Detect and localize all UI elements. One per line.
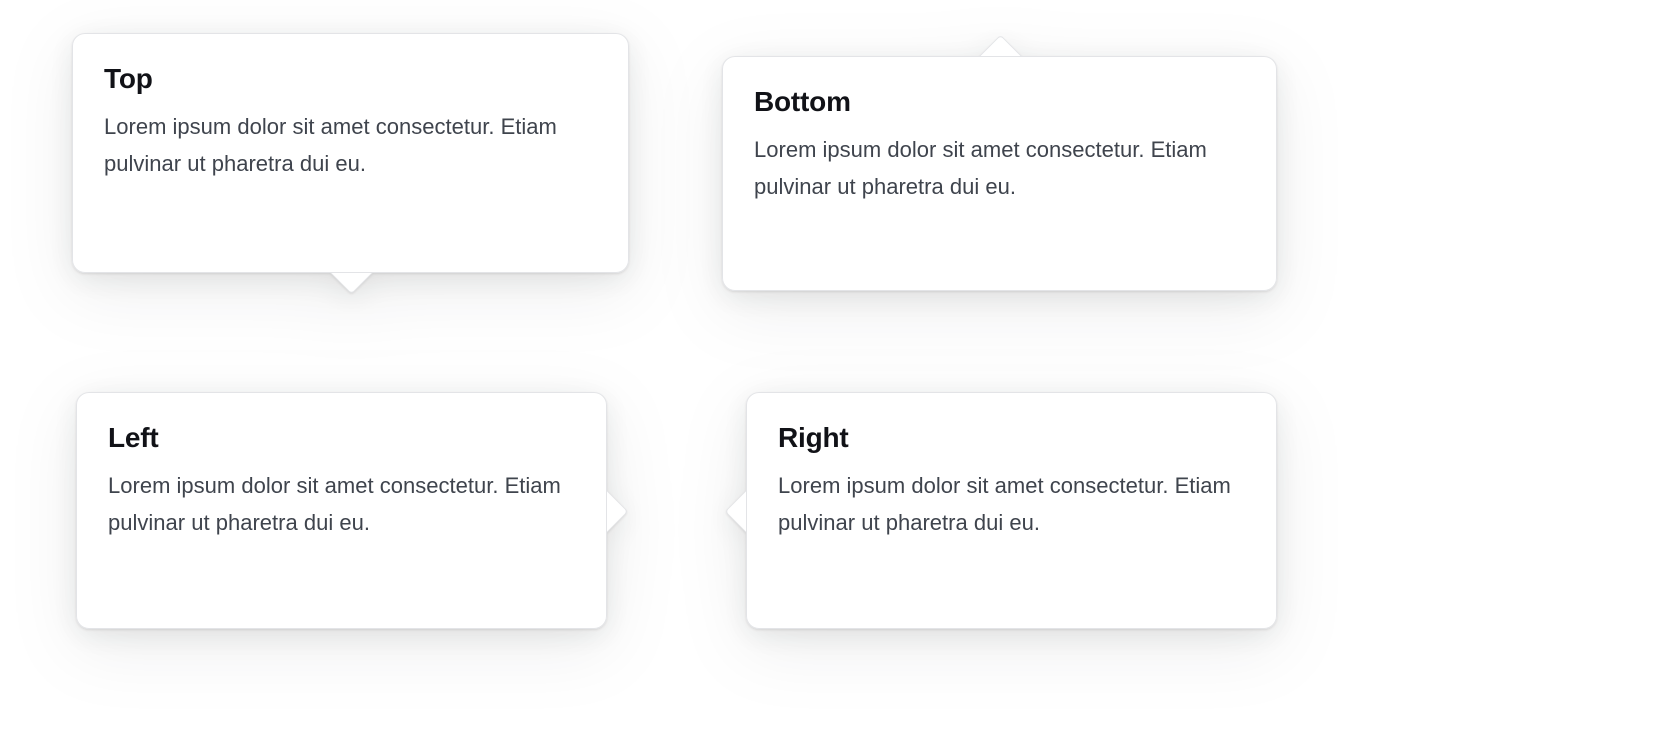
tooltip-card-right[interactable]: Right Lorem ipsum dolor sit amet consect… xyxy=(746,392,1277,629)
tooltip-body-left: Lorem ipsum dolor sit amet consectetur. … xyxy=(108,468,576,542)
tooltip-card-left[interactable]: Left Lorem ipsum dolor sit amet consecte… xyxy=(76,392,607,629)
tooltip-title-right: Right xyxy=(778,421,1246,454)
tooltip-content-top: Top Lorem ipsum dolor sit amet consectet… xyxy=(72,33,629,273)
tooltip-content-bottom: Bottom Lorem ipsum dolor sit amet consec… xyxy=(722,56,1277,291)
tooltip-content-right: Right Lorem ipsum dolor sit amet consect… xyxy=(746,392,1277,629)
tooltip-title-top: Top xyxy=(104,62,598,95)
tooltip-title-bottom: Bottom xyxy=(754,85,1246,118)
tooltip-body-top: Lorem ipsum dolor sit amet consectetur. … xyxy=(104,109,598,183)
tooltip-showcase: Top Lorem ipsum dolor sit amet consectet… xyxy=(0,0,1672,740)
tooltip-card-bottom[interactable]: Bottom Lorem ipsum dolor sit amet consec… xyxy=(722,56,1277,291)
tooltip-title-left: Left xyxy=(108,421,576,454)
tooltip-content-left: Left Lorem ipsum dolor sit amet consecte… xyxy=(76,392,607,629)
tooltip-body-right: Lorem ipsum dolor sit amet consectetur. … xyxy=(778,468,1246,542)
tooltip-card-top[interactable]: Top Lorem ipsum dolor sit amet consectet… xyxy=(72,33,629,273)
tooltip-body-bottom: Lorem ipsum dolor sit amet consectetur. … xyxy=(754,132,1246,206)
